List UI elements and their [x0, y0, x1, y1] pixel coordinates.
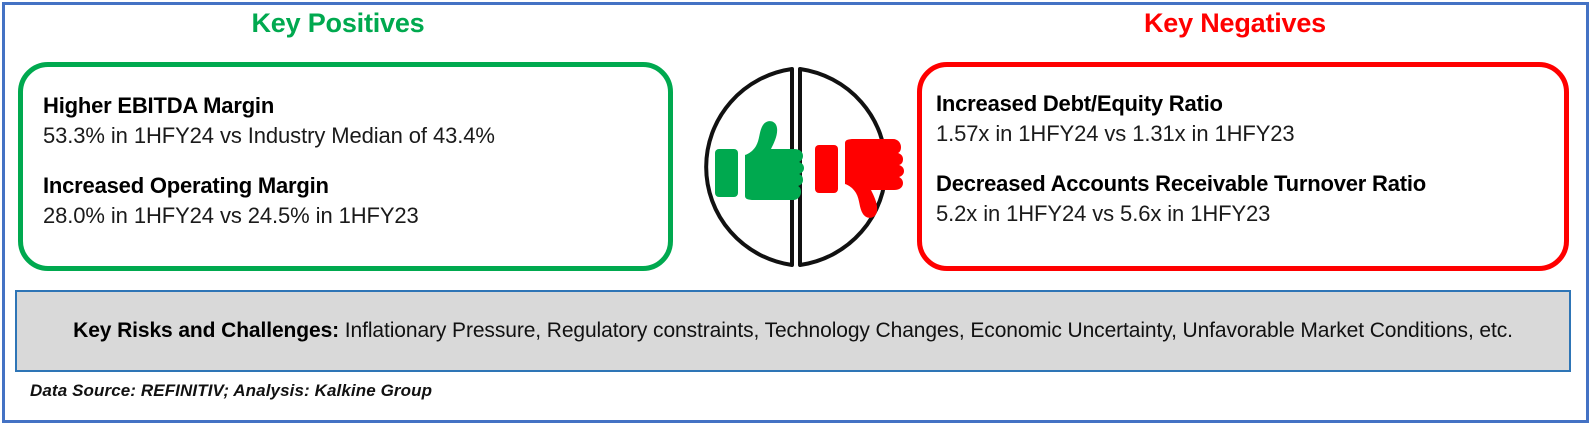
key-risks-label: Key Risks and Challenges:	[73, 319, 339, 342]
key-risks-bar: Key Risks and Challenges: Inflationary P…	[15, 290, 1571, 372]
key-risks-body: Inflationary Pressure, Regulatory constr…	[339, 319, 1513, 342]
key-positives-heading: Key Positives	[0, 6, 676, 40]
key-negatives-heading: Key Negatives	[915, 6, 1555, 40]
infographic-canvas: Key Positives Higher EBITDA Margin 53.3%…	[0, 0, 1591, 425]
list-item: Increased Debt/Equity Ratio 1.57x in 1HF…	[936, 89, 1550, 149]
positive-item-2-title: Increased Operating Margin	[43, 171, 654, 201]
thumbs-up-down-split-circle-icon	[684, 63, 908, 271]
positive-item-2-detail: 28.0% in 1HFY24 vs 24.5% in 1HFY23	[43, 201, 654, 231]
negative-item-2-title: Decreased Accounts Receivable Turnover R…	[936, 169, 1550, 199]
key-negatives-list: Increased Debt/Equity Ratio 1.57x in 1HF…	[936, 89, 1550, 229]
key-positives-box: Higher EBITDA Margin 53.3% in 1HFY24 vs …	[18, 62, 673, 271]
positive-item-1-detail: 53.3% in 1HFY24 vs Industry Median of 43…	[43, 121, 654, 151]
key-negatives-box: Increased Debt/Equity Ratio 1.57x in 1HF…	[917, 62, 1569, 271]
key-risks-text: Key Risks and Challenges: Inflationary P…	[73, 315, 1513, 347]
negative-item-1-title: Increased Debt/Equity Ratio	[936, 89, 1550, 119]
list-item: Increased Operating Margin 28.0% in 1HFY…	[43, 171, 654, 231]
negative-item-1-detail: 1.57x in 1HFY24 vs 1.31x in 1HFY23	[936, 119, 1550, 149]
data-source-note: Data Source: REFINITIV; Analysis: Kalkin…	[30, 381, 432, 401]
negative-item-2-detail: 5.2x in 1HFY24 vs 5.6x in 1HFY23	[936, 199, 1550, 229]
positive-item-1-title: Higher EBITDA Margin	[43, 91, 654, 121]
list-item: Decreased Accounts Receivable Turnover R…	[936, 169, 1550, 229]
key-positives-list: Higher EBITDA Margin 53.3% in 1HFY24 vs …	[43, 91, 654, 231]
list-item: Higher EBITDA Margin 53.3% in 1HFY24 vs …	[43, 91, 654, 151]
